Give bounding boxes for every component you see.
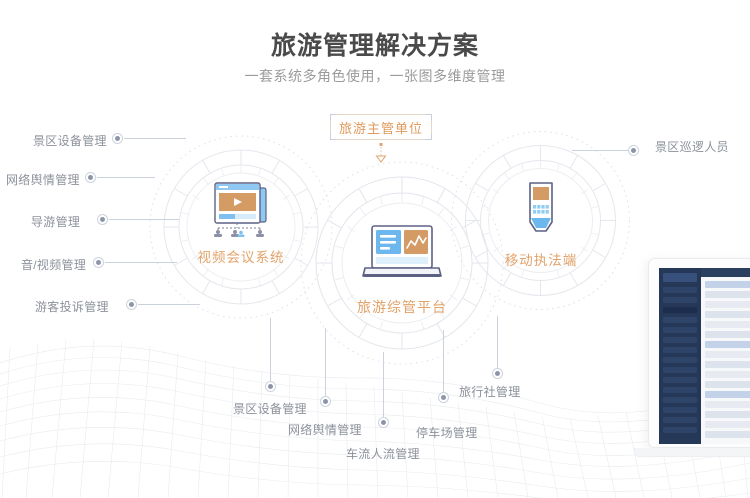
- bottom-dot-3[interactable]: [438, 392, 449, 403]
- mock-content-row: [705, 391, 750, 398]
- mock-sidebar: [659, 268, 701, 444]
- authority-badge[interactable]: 旅游主管单位: [330, 114, 432, 140]
- mock-nav-item: [663, 427, 697, 433]
- bottom-label-1: 网络舆情管理: [288, 421, 362, 438]
- mock-main-panel: [701, 268, 750, 444]
- node-tourism-platform-label: 旅游综管平台: [326, 297, 478, 317]
- laptop-screen: [659, 268, 750, 444]
- left-label-0: 景区设备管理: [33, 132, 107, 149]
- left-dot-4[interactable]: [126, 299, 137, 310]
- laptop-dashboard-icon: [355, 224, 449, 284]
- left-line-4: [138, 304, 200, 305]
- solution-diagram-page: 旅游管理解决方案 一套系统多角色使用，一张图多维度管理 旅游主管单位 景区设备管…: [0, 0, 750, 498]
- mock-nav-item: [663, 327, 697, 333]
- left-dot-3[interactable]: [93, 257, 104, 268]
- left-dot-0[interactable]: [112, 133, 123, 144]
- mock-content-row: [705, 411, 750, 418]
- mock-content-row: [705, 341, 750, 348]
- page-subtitle: 一套系统多角色使用，一张图多维度管理: [0, 66, 750, 86]
- mock-content-row: [705, 351, 750, 358]
- mock-content-row: [705, 431, 750, 438]
- mock-content-row: [705, 381, 750, 388]
- left-dot-2[interactable]: [97, 214, 108, 225]
- left-dot-1[interactable]: [85, 172, 96, 183]
- bottom-dot-0[interactable]: [265, 381, 276, 392]
- mock-nav-item: [663, 377, 697, 383]
- mobile-device-icon: [518, 180, 564, 240]
- authority-badge-label: 旅游主管单位: [339, 118, 423, 137]
- left-label-2: 导游管理: [31, 213, 80, 230]
- node-video-conference[interactable]: 视频会议系统: [165, 175, 317, 266]
- mock-nav-item: [663, 417, 697, 423]
- badge-corner-br: [425, 133, 432, 140]
- mock-nav-item: [663, 367, 697, 373]
- node-video-conference-label: 视频会议系统: [165, 246, 317, 266]
- background-mesh: [0, 308, 750, 498]
- mock-nav-item: [663, 307, 697, 313]
- mock-top-bar: [701, 268, 750, 277]
- mock-content-row: [705, 281, 750, 288]
- bottom-label-3: 停车场管理: [416, 424, 478, 441]
- badge-corner-tr: [425, 114, 432, 121]
- node-tourism-platform[interactable]: 旅游综管平台: [326, 224, 478, 317]
- left-label-3: 音/视频管理: [21, 256, 86, 273]
- bottom-dot-1[interactable]: [320, 396, 331, 407]
- bottom-dot-2[interactable]: [378, 417, 389, 428]
- bottom-dot-4[interactable]: [492, 368, 503, 379]
- mock-brand: [663, 273, 697, 282]
- bottom-line-1: [325, 328, 326, 396]
- mock-nav-item: [663, 347, 697, 353]
- bottom-label-2: 车流人流管理: [346, 445, 420, 462]
- mock-content-row: [705, 321, 750, 328]
- right-label-0: 景区巡逻人员: [655, 138, 729, 155]
- page-title: 旅游管理解决方案: [0, 26, 750, 62]
- bottom-label-4: 旅行社管理: [459, 383, 521, 400]
- bottom-line-4: [497, 316, 498, 368]
- badge-corner-tl: [330, 114, 337, 121]
- bottom-line-0: [270, 318, 271, 381]
- mock-nav-item: [663, 287, 697, 293]
- bottom-label-0: 景区设备管理: [233, 400, 307, 417]
- mock-nav-item: [663, 337, 697, 343]
- mock-nav-item: [663, 297, 697, 303]
- mock-nav-item: [663, 357, 697, 363]
- down-arrow-icon: [370, 143, 392, 165]
- right-line-0: [572, 150, 628, 151]
- mock-content-row: [705, 401, 750, 408]
- right-dot-0[interactable]: [628, 145, 639, 156]
- mock-content-row: [705, 291, 750, 298]
- bottom-line-3: [443, 330, 444, 392]
- laptop-base: [634, 448, 750, 457]
- mock-content-row: [705, 331, 750, 338]
- mock-content-row: [705, 371, 750, 378]
- node-mobile-enforcement[interactable]: 移动执法端: [465, 180, 617, 269]
- mock-content-row: [705, 301, 750, 308]
- dashboard-laptop-mockup: [648, 258, 750, 468]
- badge-corner-bl: [330, 133, 337, 140]
- mock-content-row: [705, 421, 750, 428]
- mock-nav-item: [663, 317, 697, 323]
- mock-content-row: [705, 311, 750, 318]
- left-label-1: 网络舆情管理: [6, 171, 80, 188]
- left-line-0: [124, 138, 186, 139]
- left-label-4: 游客投诉管理: [35, 298, 109, 315]
- mock-nav-item: [663, 397, 697, 403]
- bottom-line-2: [383, 352, 384, 417]
- node-mobile-enforcement-label: 移动执法端: [465, 249, 617, 269]
- video-window-icon: [204, 175, 278, 237]
- laptop-lid: [648, 258, 750, 448]
- mock-nav-item: [663, 407, 697, 413]
- mock-content-row: [705, 361, 750, 368]
- mock-nav-item: [663, 387, 697, 393]
- left-line-1: [97, 177, 155, 178]
